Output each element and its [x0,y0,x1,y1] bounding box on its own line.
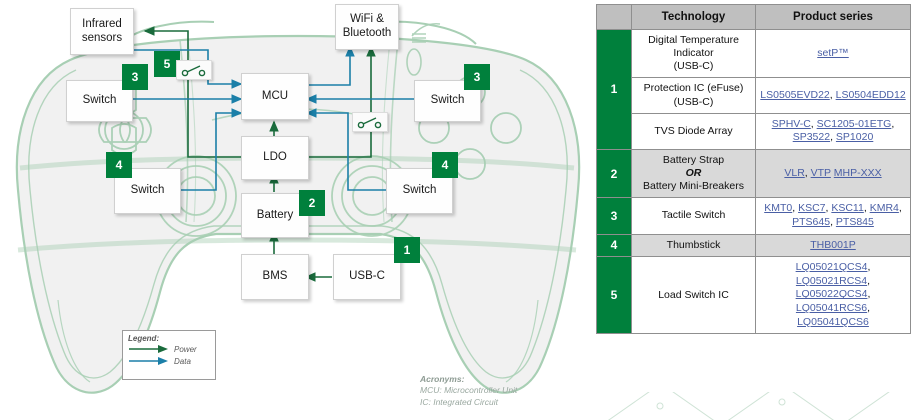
product-series-cell: VLR, VTP MHP-XXX [756,149,911,197]
table-row: 1Digital TemperatureIndicator(USB-C)setP… [597,30,911,78]
product-link[interactable]: KSC7 [798,202,825,214]
legend-box: Legend: Power Data [122,330,216,380]
technology-cell: Battery StrapORBattery Mini-Breakers [632,149,756,197]
acronym-mcu: MCU: Microcontroller Unit [420,385,517,396]
node-label: Infraredsensors [82,18,122,45]
controller-block-diagram: Infraredsensors Switch WiFi &Bluetooth S… [0,0,595,420]
page-root: Infraredsensors Switch WiFi &Bluetooth S… [0,0,915,420]
technology-cell: Digital TemperatureIndicator(USB-C) [632,30,756,78]
table-row: 3Tactile SwitchKMT0, KSC7, KSC11, KMR4, … [597,198,911,234]
badge-4-left[interactable]: 4 [106,152,132,178]
node-label: Switch [431,94,465,108]
table-row: 4ThumbstickTHB001P [597,234,911,257]
table-body: 1Digital TemperatureIndicator(USB-C)setP… [597,30,911,334]
components-table: Technology Product series 1Digital Tempe… [596,4,911,334]
product-link[interactable]: VTP [811,167,831,179]
product-link[interactable]: LQ05041QCS6 [797,316,869,328]
product-link[interactable]: KSC11 [831,202,864,214]
node-ldo[interactable]: LDO [241,136,309,180]
badge-value: 2 [309,196,316,210]
node-label: Switch [403,184,437,198]
data-arrow-icon [128,356,170,366]
product-link[interactable]: SC1205-01ETG [817,118,892,130]
product-link[interactable]: VLR [784,167,804,179]
product-link[interactable]: PTS645 [792,216,830,228]
acronym-ic: IC: Integrated Circuit [420,397,517,408]
product-link[interactable]: setP™ [817,47,849,59]
product-link[interactable]: LQ05022QCS4 [796,288,868,300]
group-number-cell: 3 [597,198,632,234]
header-technology: Technology [632,5,756,30]
node-label: Battery [257,209,293,223]
table-row: TVS Diode ArraySPHV-C, SC1205-01ETG, SP3… [597,113,911,149]
product-link[interactable]: LQ05041RCS6 [796,302,867,314]
node-mcu[interactable]: MCU [241,73,309,120]
header-group [597,5,632,30]
node-usb-c[interactable]: USB-C [333,254,401,300]
product-series-cell: SPHV-C, SC1205-01ETG, SP3522, SP1020 [756,113,911,149]
product-link[interactable]: KMT0 [764,202,792,214]
product-link[interactable]: LQ05021QCS4 [796,261,868,273]
node-label: Switch [131,184,165,198]
product-link[interactable]: SP3522 [793,131,830,143]
product-link[interactable]: KMR4 [870,202,899,214]
technology-cell: Tactile Switch [632,198,756,234]
badge-1[interactable]: 1 [394,237,420,263]
badge-value: 4 [116,158,123,172]
table-row: 2Battery StrapORBattery Mini-BreakersVLR… [597,149,911,197]
load-switch-icon-left [176,60,212,80]
group-number-cell: 5 [597,257,632,334]
badge-value: 3 [474,70,481,84]
product-link[interactable]: SP1020 [836,131,873,143]
badge-value: 5 [164,57,171,71]
product-link[interactable]: PTS845 [836,216,874,228]
node-label: USB-C [349,270,385,284]
acronyms-block: Acronyms: MCU: Microcontroller Unit IC: … [420,374,517,408]
legend-row-data: Data [128,355,210,367]
product-link[interactable]: LS0505EVD22 [760,89,829,101]
product-link[interactable]: LQ05021RCS4 [796,275,867,287]
node-infrared-sensors[interactable]: Infraredsensors [70,8,134,55]
badge-value: 3 [132,70,139,84]
load-switch-icon-right [352,112,388,132]
technology-cell: Thumbstick [632,234,756,257]
legend-title: Legend: [128,334,210,343]
badge-2[interactable]: 2 [299,190,325,216]
product-series-cell: KMT0, KSC7, KSC11, KMR4, PTS645, PTS845 [756,198,911,234]
legend-row-power: Power [128,343,210,355]
product-link[interactable]: SPHV-C [772,118,811,130]
product-link[interactable]: LS0504EDD12 [836,89,906,101]
badge-3-right[interactable]: 3 [464,64,490,90]
product-series-cell: THB001P [756,234,911,257]
product-series-cell: setP™ [756,30,911,78]
product-reference-table: Technology Product series 1Digital Tempe… [596,4,910,392]
header-product-series: Product series [756,5,911,30]
technology-cell: Load Switch IC [632,257,756,334]
power-arrow-icon [128,344,170,354]
legend-data-label: Data [174,357,191,366]
node-wifi-bluetooth[interactable]: WiFi &Bluetooth [335,4,399,50]
node-label: Switch [83,94,117,108]
table-row: Protection IC (eFuse)(USB-C)LS0505EVD22,… [597,78,911,113]
product-link[interactable]: THB001P [810,239,856,251]
acronyms-title: Acronyms: [420,374,517,385]
badge-3-left[interactable]: 3 [122,64,148,90]
node-label: BMS [263,270,288,284]
table-row: 5Load Switch ICLQ05021QCS4, LQ05021RCS4,… [597,257,911,334]
node-label: LDO [263,151,287,165]
table-header-row: Technology Product series [597,5,911,30]
technology-cell: TVS Diode Array [632,113,756,149]
group-number-cell: 1 [597,30,632,150]
background-watermark [596,392,915,420]
badge-4-right[interactable]: 4 [432,152,458,178]
node-label: MCU [262,90,288,104]
product-series-cell: LQ05021QCS4, LQ05021RCS4, LQ05022QCS4, L… [756,257,911,334]
node-bms[interactable]: BMS [241,254,309,300]
product-link[interactable]: MHP-XXX [834,167,882,179]
badge-value: 4 [442,158,449,172]
technology-cell: Protection IC (eFuse)(USB-C) [632,78,756,113]
legend-power-label: Power [174,345,197,354]
badge-value: 1 [404,243,411,257]
node-label: WiFi &Bluetooth [343,13,392,40]
group-number-cell: 4 [597,234,632,257]
product-series-cell: LS0505EVD22, LS0504EDD12 [756,78,911,113]
group-number-cell: 2 [597,149,632,197]
